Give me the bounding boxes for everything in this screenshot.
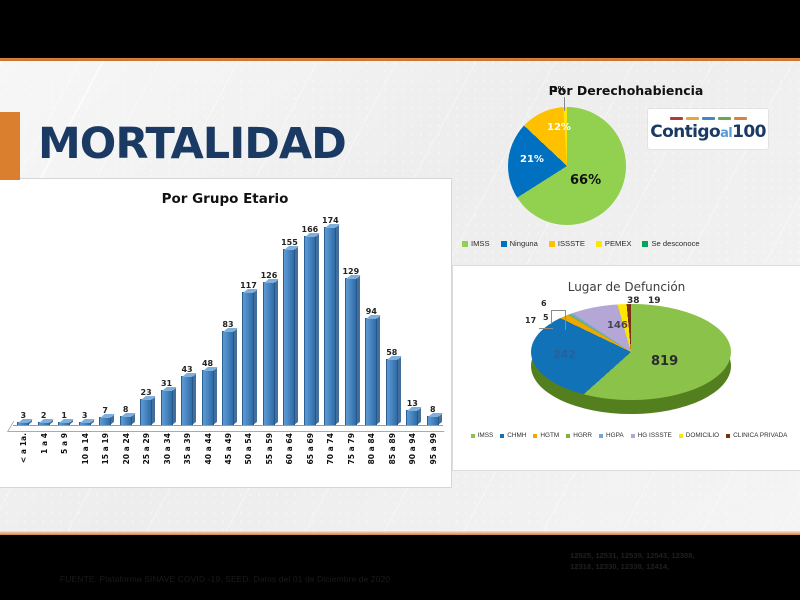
legend-swatch <box>566 434 570 438</box>
legend-label: IMSS <box>471 239 490 248</box>
bar: 43 <box>181 376 193 425</box>
legend-label: PEMEX <box>605 239 632 248</box>
contigo-al-100-logo: Contigoal100 <box>648 109 768 149</box>
logo-dashes <box>670 117 747 120</box>
x-tick-label: 65 a 69 <box>306 433 315 465</box>
legend-item: IMSS <box>471 432 494 439</box>
legend-label: ISSSTE <box>558 239 585 248</box>
x-tick-label: 30 a 34 <box>163 433 172 465</box>
bar-body <box>242 292 254 425</box>
legend-item: HGPA <box>599 432 624 439</box>
logo-dash <box>702 117 715 120</box>
legend-swatch <box>533 434 537 438</box>
x-tick-label: 35 a 39 <box>183 433 192 465</box>
pie-leader-line <box>565 310 566 330</box>
legend-item: HGRR <box>566 432 592 439</box>
legend-label: HGPA <box>606 432 624 439</box>
pie-slice-label-pemex: 1% <box>552 85 566 94</box>
x-tick-label: 90 a 94 <box>408 433 417 465</box>
legend-label: HG ISSSTE <box>638 432 672 439</box>
bar-chart-x-tick-labels: < a 1a.1 a 45 a 910 a 1415 a 1920 a 2425… <box>13 429 443 485</box>
bar-body <box>202 370 214 425</box>
bar: 166 <box>304 236 316 425</box>
legend-item: PEMEX <box>596 239 632 248</box>
pie-slice-label-hgpa: 6 <box>541 299 547 308</box>
page-title: MORTALIDAD <box>38 119 346 169</box>
bar-chart-plot-area: 3213782331434883117126155166174129945813… <box>13 215 443 425</box>
bar-body <box>304 236 316 425</box>
bar: 31 <box>161 390 173 425</box>
x-tick-label: 55 a 59 <box>265 433 274 465</box>
bar-body <box>181 376 193 425</box>
bar: 48 <box>202 370 214 425</box>
legend-swatch <box>642 241 648 247</box>
letterbox-top <box>0 0 800 58</box>
legend-item: CLINICA PRIVADA <box>726 432 787 439</box>
logo-text-num: 100 <box>732 122 766 142</box>
pie-slice-label-chmh: 242 <box>553 348 576 361</box>
x-tick-label: 25 a 29 <box>142 433 151 465</box>
bar-body <box>324 227 336 425</box>
legend-item: ISSSTE <box>549 239 585 248</box>
logo-dash <box>686 117 699 120</box>
x-tick-label: 45 a 49 <box>224 433 233 465</box>
legend-swatch <box>471 434 475 438</box>
legend-label: Ninguna <box>510 239 538 248</box>
legend-item: DOMICILIO <box>679 432 719 439</box>
footer-codes-line-1: 12525, 12531, 12539, 12543, 12308, <box>570 550 695 561</box>
legend-swatch <box>549 241 555 247</box>
bar: 117 <box>242 292 254 425</box>
legend-swatch <box>599 434 603 438</box>
bar: 94 <box>365 318 377 425</box>
bar-body <box>263 282 275 425</box>
bar-body <box>386 359 398 425</box>
legend-label: CLINICA PRIVADA <box>733 432 787 439</box>
pie-leader-line <box>539 328 553 329</box>
legend-item: Ninguna <box>501 239 538 248</box>
x-tick-label: < a 1a. <box>19 433 28 463</box>
pie-slice-label-domicilio: 38 <box>627 296 640 306</box>
legend-swatch <box>631 434 635 438</box>
x-tick-label: 15 a 19 <box>101 433 110 465</box>
x-tick-label: 20 a 24 <box>122 433 131 465</box>
legend-label: DOMICILIO <box>686 432 719 439</box>
legend-swatch <box>726 434 730 438</box>
x-tick-label: 85 a 89 <box>388 433 397 465</box>
pie-slice-label-imss: 819 <box>651 354 678 369</box>
x-tick-label: 40 a 44 <box>204 433 213 465</box>
bar-chart-x-axis <box>13 425 443 426</box>
slide-frame: MORTALIDAD Por Grupo Etario 321378233143… <box>0 0 800 600</box>
legend-label: HGRR <box>573 432 592 439</box>
legend-item: Se desconoce <box>642 239 699 248</box>
bar: 174 <box>324 227 336 425</box>
footer-source-text: FUENTE. Plataforma SINAVE COVID -19, SEE… <box>60 574 390 584</box>
bar-body <box>283 249 295 425</box>
logo-dash <box>718 117 731 120</box>
pie-slice-label-hgrr: 5 <box>543 313 549 322</box>
lugar-defuncion-legend: IMSSCHMHHGTMHGRRHGPAHG ISSSTEDOMICILIOCL… <box>461 432 797 439</box>
logo-dash <box>734 117 747 120</box>
x-tick-label: 10 a 14 <box>81 433 90 465</box>
x-tick-label: 70 a 74 <box>326 433 335 465</box>
footer-codes-line-2: 12318, 12330, 12338, 12414, <box>570 561 695 572</box>
bottom-orange-rule <box>0 531 800 535</box>
bar: 155 <box>283 249 295 425</box>
derechohabiencia-pie: 66% 21% 12% 1% <box>508 107 626 225</box>
pie-slice-label-clinica-privada: 19 <box>648 296 661 306</box>
x-tick-label: 95 a 99 <box>429 433 438 465</box>
bar-body <box>161 390 173 425</box>
legend-label: HGTM <box>540 432 559 439</box>
lugar-defuncion-pie: 819 242 17 5 6 146 38 19 <box>531 300 731 420</box>
legend-item: IMSS <box>462 239 490 248</box>
footer-codes: 12525, 12531, 12539, 12543, 12308, 12318… <box>570 550 695 572</box>
x-tick-label: 5 a 9 <box>60 433 69 454</box>
legend-swatch <box>596 241 602 247</box>
x-tick-label: 1 a 4 <box>40 433 49 454</box>
bar-chart-panel: Por Grupo Etario 32137823314348831171261… <box>0 178 452 488</box>
logo-text-main: Contigo <box>650 122 720 142</box>
legend-item: HG ISSSTE <box>631 432 672 439</box>
legend-swatch <box>679 434 683 438</box>
x-tick-label: 80 a 84 <box>367 433 376 465</box>
pie-slice-label-hg-issste: 146 <box>607 320 628 331</box>
bar: 129 <box>345 278 357 425</box>
legend-swatch <box>501 241 507 247</box>
lugar-defuncion-chart-title: Lugar de Defunción <box>453 280 800 294</box>
x-tick-label: 60 a 64 <box>285 433 294 465</box>
derechohabiencia-legend: IMSSNingunaISSSTEPEMEXSe desconoce <box>462 239 792 248</box>
x-tick-label: 75 a 79 <box>347 433 356 465</box>
legend-swatch <box>500 434 504 438</box>
pie-slice-label-issste: 12% <box>547 122 571 133</box>
logo-dash <box>670 117 683 120</box>
slide-canvas: MORTALIDAD Por Grupo Etario 321378233143… <box>0 61 800 531</box>
logo-text-al: al <box>720 126 732 141</box>
logo-text: Contigoal100 <box>650 122 766 142</box>
legend-item: HGTM <box>533 432 559 439</box>
pie-leader-line <box>551 310 552 324</box>
x-tick-label: 50 a 54 <box>244 433 253 465</box>
legend-label: Se desconoce <box>651 239 699 248</box>
bar-chart-title: Por Grupo Etario <box>0 191 451 207</box>
pie-slice-label-ninguna: 21% <box>520 154 544 165</box>
lugar-defuncion-chart-panel: Lugar de Defunción 819 242 17 5 6 146 38… <box>452 265 800 471</box>
legend-label: IMSS <box>478 432 494 439</box>
bar: 58 <box>386 359 398 425</box>
pie-slice-label-hgtm: 17 <box>525 316 536 325</box>
bar-body <box>222 331 234 425</box>
bar: 83 <box>222 331 234 425</box>
legend-label: CHMH <box>507 432 526 439</box>
bar-body <box>345 278 357 425</box>
bar: 126 <box>263 282 275 425</box>
title-accent-bar <box>0 112 20 180</box>
legend-swatch <box>462 241 468 247</box>
derechohabiencia-chart-panel: Por Derechohabiencia 66% 21% 12% 1% IMSS… <box>452 61 800 265</box>
pie-leader-line <box>564 97 565 111</box>
legend-item: CHMH <box>500 432 526 439</box>
pie-leader-line <box>551 310 565 311</box>
derechohabiencia-chart-title: Por Derechohabiencia <box>452 83 800 98</box>
pie-slice-label-imss: 66% <box>570 173 601 188</box>
bar-body <box>365 318 377 425</box>
